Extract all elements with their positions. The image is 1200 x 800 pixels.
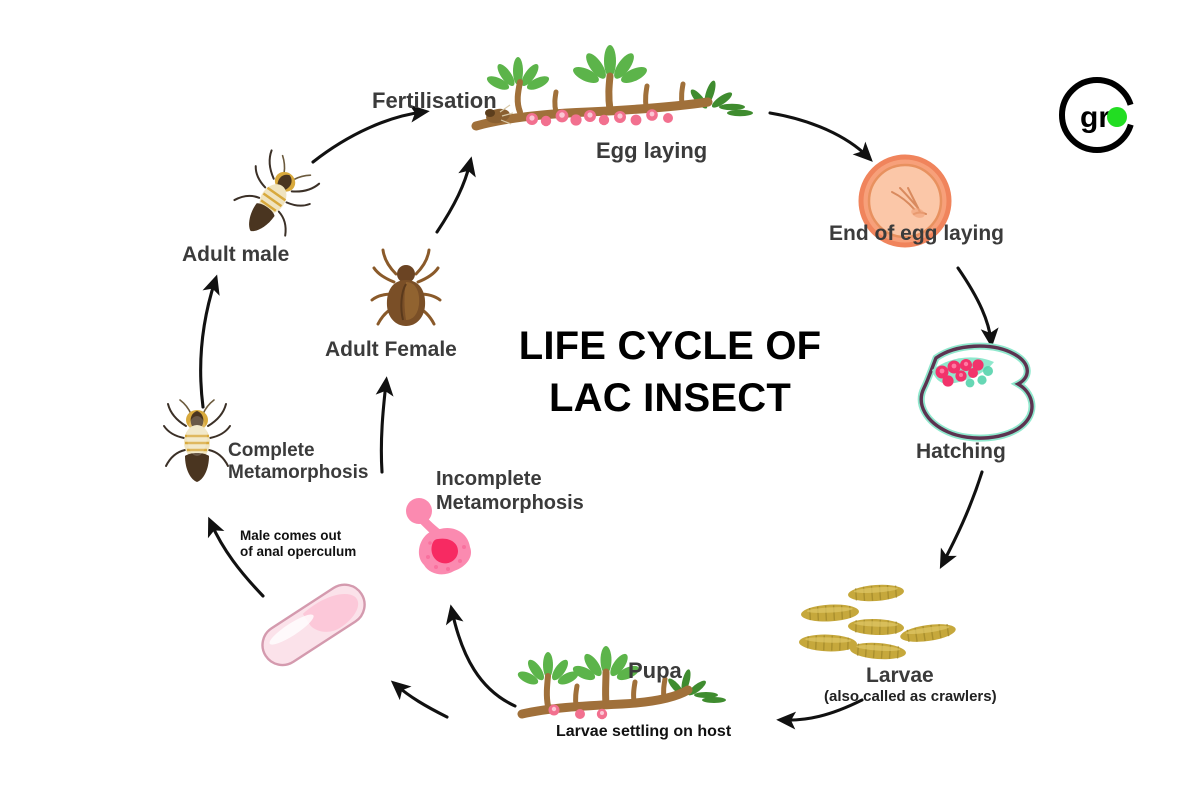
arrow-adultmale-to-fertilisation — [313, 112, 423, 162]
label-egg-laying: Egg laying — [596, 138, 707, 164]
arrow-endegg-to-hatching — [958, 268, 991, 341]
label-fertilisation: Fertilisation — [372, 88, 497, 114]
label-larvae-sub: (also called as crawlers) — [824, 688, 997, 706]
arrow-incomplete-to-adultfemale — [381, 383, 386, 472]
label-incomplete-metamorphosis: Incomplete Metamorphosis — [436, 468, 584, 515]
arrow-adultfemale-to-egglaying — [437, 163, 470, 232]
brown-tick-art — [370, 248, 442, 334]
label-pupa: Pupa — [628, 658, 682, 684]
label-male-comes-out: Male comes out of anal operculum — [240, 528, 356, 560]
label-hatching: Hatching — [916, 440, 1006, 465]
label-larvae: Larvae — [866, 664, 934, 689]
label-complete-metamorphosis: Complete Metamorphosis — [228, 440, 368, 485]
arrow-egglaying-to-endegg — [770, 113, 868, 157]
arrow-complete-to-adultmale — [201, 281, 215, 407]
arrow-hatching-to-larvae — [943, 472, 982, 563]
label-larvae-settling: Larvae settling on host — [556, 723, 731, 742]
pale-pink-capsule-art — [248, 572, 378, 677]
life-cycle-diagram: LIFE CYCLE OF LAC INSECT gr — [0, 0, 1200, 800]
branch-with-eggs-art — [470, 50, 770, 145]
arrow-pupa-to-incomplete — [452, 611, 515, 706]
bee-dorsal-art — [160, 398, 234, 484]
label-adult-female: Adult Female — [325, 338, 457, 363]
label-adult-male: Adult male — [182, 243, 289, 268]
label-end-of-egg-laying: End of egg laying — [829, 222, 1004, 247]
larvae-cluster-art — [818, 575, 1008, 655]
hatching-cell-art — [906, 340, 1046, 445]
larva — [799, 583, 957, 661]
bee-tilted-art — [228, 158, 318, 240]
leaf-green — [485, 45, 753, 116]
